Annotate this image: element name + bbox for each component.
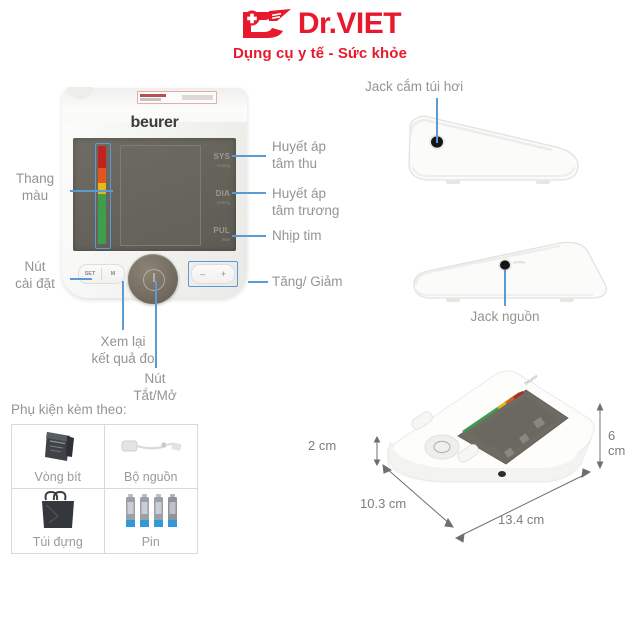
batteries-icon xyxy=(105,489,198,534)
callout-pulse: Nhịp tim xyxy=(272,227,377,244)
infographic-canvas: Dr.VIET Dụng cụ y tế - Sức khỏe beurer S… xyxy=(0,0,640,640)
leader-line-systolic xyxy=(232,155,266,157)
screen-label-sys: SYS mmHg xyxy=(213,152,230,170)
cuff-icon xyxy=(12,425,104,469)
callout-systolic: Huyết áp tâm thu xyxy=(272,138,367,172)
callout-power-jack: Jack nguồn xyxy=(440,308,570,325)
accessory-item-batteries: Pin xyxy=(105,489,198,553)
accessory-label: Túi đựng xyxy=(33,534,83,550)
callout-settings-button: Nút cài đặt xyxy=(2,258,68,292)
leader-line-power xyxy=(155,281,157,368)
accessory-label: Bộ nguồn xyxy=(124,469,178,485)
leader-line-diastolic xyxy=(232,192,266,194)
sys-unit: mmHg xyxy=(213,161,230,170)
device-3d-view: beurer xyxy=(330,352,630,552)
device-screen: SYS mmHg DIA mmHg PUL /min xyxy=(73,138,236,251)
dimension-height-label: 2 cm xyxy=(308,438,336,453)
device-notch xyxy=(67,87,93,99)
brand-tagline: Dụng cụ y tế - Sức khỏe xyxy=(0,45,640,62)
dimension-width-label: 13.4 cm xyxy=(498,512,544,527)
dia-unit: mmHg xyxy=(216,198,230,207)
pul-unit: /min xyxy=(213,235,230,244)
logo-row: Dr.VIET xyxy=(0,4,640,44)
power-adapter-icon xyxy=(105,425,198,469)
plus-minus-highlight xyxy=(188,261,238,287)
device-brand-text: beurer xyxy=(62,114,247,132)
dimension-front-depth-label: 6 cm xyxy=(608,428,630,458)
accessory-label: Pin xyxy=(142,534,160,550)
power-button[interactable] xyxy=(128,254,178,304)
leader-line-color-scale-2 xyxy=(85,190,113,192)
brand-header: Dr.VIET Dụng cụ y tế - Sức khỏe xyxy=(0,4,640,62)
accessory-item-power-adapter: Bộ nguồn xyxy=(105,425,198,489)
screen-label-dia: DIA mmHg xyxy=(216,189,230,207)
device-side-view-cuff xyxy=(380,105,585,190)
dimension-diagram: beurer xyxy=(330,352,630,552)
leader-line-plus-minus xyxy=(248,281,268,283)
dimension-depth-label: 10.3 cm xyxy=(360,496,406,511)
leader-line-cuff-jack xyxy=(436,98,438,143)
accessories-title: Phụ kiện kèm theo: xyxy=(11,402,127,417)
leader-line-settings xyxy=(70,278,92,280)
accessory-label: Vòng bít xyxy=(34,469,81,485)
pul-code: PUL xyxy=(213,226,230,235)
callout-increase-decrease: Tăng/ Giảm xyxy=(272,273,392,290)
callout-diastolic: Huyết áp tâm trương xyxy=(272,185,377,219)
logo-text: Dr.VIET xyxy=(298,7,401,41)
set-memory-button-group[interactable]: SET M xyxy=(78,264,125,284)
memory-button[interactable]: M xyxy=(102,271,124,277)
sys-code: SYS xyxy=(213,152,230,161)
callout-cuff-jack: Jack cắm túi hơi xyxy=(365,78,535,95)
device-label-sticker xyxy=(137,91,217,104)
callout-power-button: Nút Tắt/Mở xyxy=(105,370,205,404)
dr-viet-logo-icon xyxy=(239,7,293,41)
power-symbol-icon xyxy=(143,269,165,291)
callout-review-results: Xem lại kết quả đo xyxy=(62,333,184,367)
screen-label-pul: PUL /min xyxy=(213,226,230,244)
color-scale-highlight xyxy=(95,143,111,249)
storage-bag-icon xyxy=(12,489,104,534)
lcd-display xyxy=(120,145,201,246)
accessory-item-cuff: Vòng bít xyxy=(12,425,105,489)
accessory-item-storage-bag: Túi đựng xyxy=(12,489,105,553)
leader-line-power-jack xyxy=(504,270,506,306)
callout-color-scale: Thang màu xyxy=(2,170,68,204)
set-button[interactable]: SET xyxy=(79,271,101,277)
leader-line-review xyxy=(122,281,124,330)
leader-line-pulse xyxy=(232,235,266,237)
dia-code: DIA xyxy=(216,189,230,198)
blood-pressure-monitor-front: beurer SYS mmHg DIA mmHg PUL /min xyxy=(62,88,247,298)
accessories-grid: Vòng bít Bộ nguồn xyxy=(11,424,198,554)
device-side-view-power xyxy=(410,240,610,310)
leader-line-color-scale xyxy=(70,190,85,192)
